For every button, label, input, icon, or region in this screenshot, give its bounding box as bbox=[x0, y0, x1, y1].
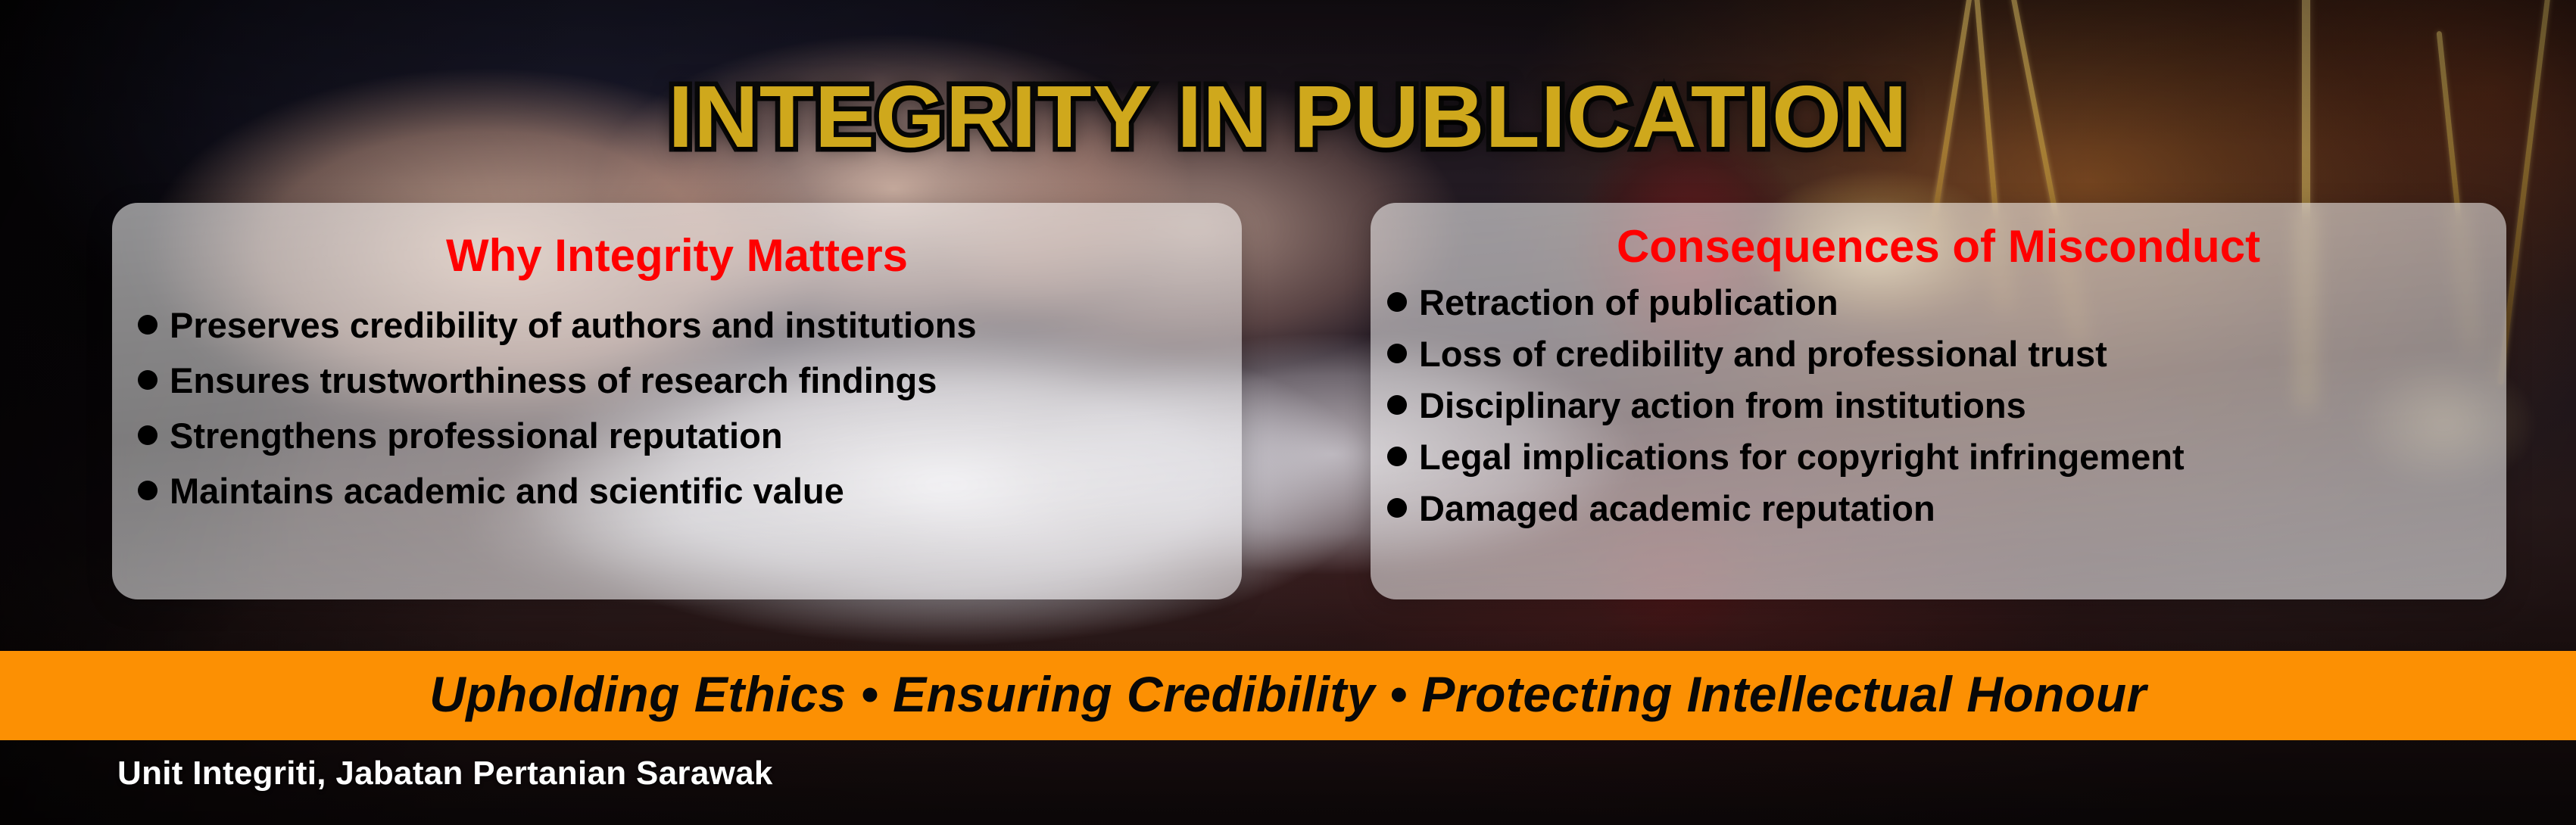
list-item: Disciplinary action from institutions bbox=[1387, 388, 2506, 423]
credit-line: Unit Integriti, Jabatan Pertanian Sarawa… bbox=[117, 757, 773, 790]
card-left-bullet-list: Preserves credibility of authors and ins… bbox=[112, 307, 1242, 509]
list-item-label: Retraction of publication bbox=[1419, 285, 1838, 320]
list-item: Loss of credibility and professional tru… bbox=[1387, 336, 2506, 372]
bullet-dot-icon bbox=[1387, 498, 1407, 518]
bullet-dot-icon bbox=[138, 425, 157, 445]
list-item-label: Preserves credibility of authors and ins… bbox=[170, 307, 977, 343]
card-left-heading: Why Integrity Matters bbox=[112, 233, 1242, 279]
bullet-dot-icon bbox=[1387, 395, 1407, 415]
poster-title: INTEGRITY IN PUBLICATION bbox=[0, 73, 2576, 160]
list-item-label: Disciplinary action from institutions bbox=[1419, 388, 2026, 423]
list-item: Maintains academic and scientific value bbox=[138, 473, 1242, 509]
list-item-label: Loss of credibility and professional tru… bbox=[1419, 336, 2107, 372]
bullet-dot-icon bbox=[138, 481, 157, 500]
bullet-dot-icon bbox=[1387, 344, 1407, 363]
list-item: Damaged academic reputation bbox=[1387, 490, 2506, 526]
tagline-banner: Upholding Ethics • Ensuring Credibility … bbox=[0, 651, 2576, 740]
card-right-heading: Consequences of Misconduct bbox=[1371, 224, 2506, 269]
card-consequences-of-misconduct: Consequences of Misconduct Retraction of… bbox=[1371, 203, 2506, 599]
bullet-dot-icon bbox=[1387, 292, 1407, 312]
list-item: Legal implications for copyright infring… bbox=[1387, 439, 2506, 475]
tagline-text: Upholding Ethics • Ensuring Credibility … bbox=[429, 669, 2147, 719]
bullet-dot-icon bbox=[138, 315, 157, 335]
list-item-label: Maintains academic and scientific value bbox=[170, 473, 844, 509]
list-item: Retraction of publication bbox=[1387, 285, 2506, 320]
list-item: Ensures trustworthiness of research find… bbox=[138, 363, 1242, 398]
list-item-label: Damaged academic reputation bbox=[1419, 490, 1935, 526]
integrity-poster: INTEGRITY IN PUBLICATION Why Integrity M… bbox=[0, 0, 2576, 825]
bullet-dot-icon bbox=[1387, 447, 1407, 466]
bullet-dot-icon bbox=[138, 370, 157, 390]
list-item-label: Legal implications for copyright infring… bbox=[1419, 439, 2185, 475]
list-item-label: Strengthens professional reputation bbox=[170, 418, 783, 453]
card-right-bullet-list: Retraction of publication Loss of credib… bbox=[1371, 285, 2506, 526]
list-item: Strengthens professional reputation bbox=[138, 418, 1242, 453]
list-item-label: Ensures trustworthiness of research find… bbox=[170, 363, 937, 398]
card-why-integrity-matters: Why Integrity Matters Preserves credibil… bbox=[112, 203, 1242, 599]
list-item: Preserves credibility of authors and ins… bbox=[138, 307, 1242, 343]
